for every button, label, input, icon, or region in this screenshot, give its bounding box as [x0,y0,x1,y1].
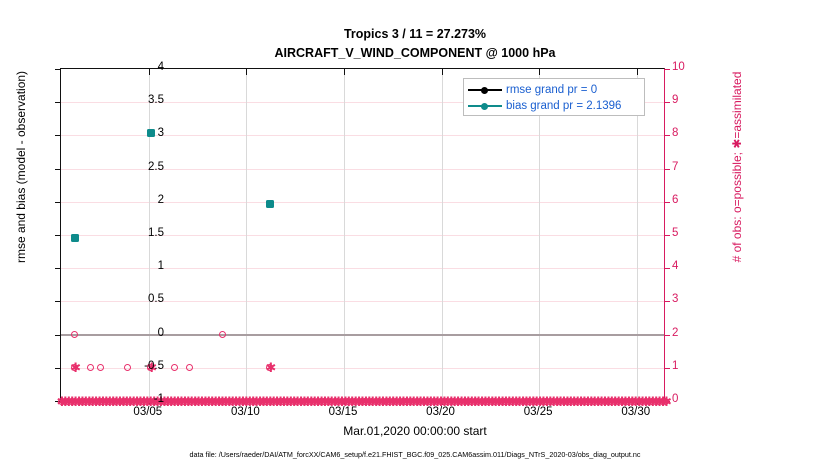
obs-assimilated-marker [265,363,274,372]
y-axis-left-ticklabel: 1.5 [116,228,164,240]
vertical-gridline [442,69,443,399]
y-axis-left-ticklabel: -0.5 [116,361,164,373]
y-axis-right-tick [664,135,670,136]
chart-title-line2: AIRCRAFT_V_WIND_COMPONENT @ 1000 hPa [0,46,830,60]
y-axis-left-tick [55,69,61,70]
x-axis-tick [246,69,247,75]
y-axis-left-ticklabel: 0.5 [116,294,164,306]
y-axis-left-ticklabel: 4 [116,62,164,74]
vertical-gridline [344,69,345,399]
x-axis-tick [539,69,540,75]
y-axis-left-tick [55,169,61,170]
y-axis-left-ticklabel: 0 [116,328,164,340]
x-axis-ticklabel: 03/05 [113,406,183,418]
obs-count-marker-zero [661,397,670,406]
vertical-gridline [539,69,540,399]
obs-possible-marker [186,364,193,371]
y-axis-right-tick [664,102,670,103]
obs-possible-marker [87,364,94,371]
y-axis-right-tick [664,235,670,236]
y-axis-right-ticklabel: 2 [672,328,712,340]
y-axis-right-ticklabel: 9 [672,95,712,107]
y-axis-right-tick [664,69,670,70]
x-axis-ticklabel: 03/25 [503,406,573,418]
y-axis-left-ticklabel: 2 [116,195,164,207]
data-file-footer: data file: /Users/raeder/DAI/ATM_forcXX/… [0,450,830,459]
x-axis-ticklabel: 03/30 [601,406,671,418]
y-axis-right-ticklabel: 5 [672,228,712,240]
y-axis-left-ticklabel: 1 [116,261,164,273]
y-axis-left-ticklabel: 3 [116,128,164,140]
y-axis-right-ticklabel: 0 [672,394,712,406]
obs-possible-marker [71,331,78,338]
y-axis-left-ticklabel: 3.5 [116,95,164,107]
y-axis-right-ticklabel: 1 [672,361,712,373]
y-axis-right-tick [664,335,670,336]
y-axis-right-tick [664,368,670,369]
y-axis-left-tick [55,368,61,369]
x-axis-ticklabel: 03/15 [308,406,378,418]
legend-label-rmse: rmse grand pr = 0 [506,84,597,96]
legend[interactable]: rmse grand pr = 0 bias grand pr = 2.1396 [463,78,645,116]
x-axis-tick [344,69,345,75]
obs-possible-marker [219,331,226,338]
y-axis-right-ticklabel: 10 [672,62,712,74]
y-axis-left-ticklabel: -1 [116,394,164,406]
y-axis-right-tick [664,268,670,269]
vertical-gridline [637,69,638,399]
legend-marker-bias [468,100,502,112]
chart-title-line1: Tropics 3 / 11 = 27.273% [0,27,830,41]
bias-marker [266,200,274,208]
legend-marker-rmse [468,84,502,96]
x-axis-tick [637,69,638,75]
y-axis-left-tick [55,235,61,236]
y-axis-left-tick [55,202,61,203]
y-axis-left-ticklabel: 2.5 [116,162,164,174]
obs-assimilated-marker [70,363,79,372]
legend-item-rmse[interactable]: rmse grand pr = 0 [468,82,640,98]
x-axis-tick [442,69,443,75]
y-axis-right-ticklabel: 3 [672,294,712,306]
y-axis-right-ticklabel: 4 [672,261,712,273]
x-axis-ticklabel: 03/10 [210,406,280,418]
obs-possible-marker [97,364,104,371]
y-axis-right-ticklabel: 6 [672,195,712,207]
bias-marker [71,234,79,242]
y-axis-right-ticklabel: 7 [672,162,712,174]
x-axis-ticklabel: 03/20 [406,406,476,418]
obs-possible-marker [171,364,178,371]
y-axis-left-tick [55,268,61,269]
y-axis-right-ticklabel: 8 [672,128,712,140]
figure-canvas: Tropics 3 / 11 = 27.273% AIRCRAFT_V_WIND… [0,0,830,470]
x-axis-label: Mar.01,2020 00:00:00 start [0,424,830,438]
vertical-gridline [246,69,247,399]
y-axis-left-tick [55,301,61,302]
y-axis-right-tick [664,169,670,170]
legend-item-bias[interactable]: bias grand pr = 2.1396 [468,98,640,114]
y-axis-right-tick [664,202,670,203]
y-axis-left-label: rmse and bias (model - observation) [14,0,28,402]
y-axis-right-tick [664,301,670,302]
y-axis-left-tick [55,135,61,136]
y-axis-left-tick [55,102,61,103]
legend-label-bias: bias grand pr = 2.1396 [506,100,621,112]
y-axis-right-label: # of obs: o=possible; ✱=assimilated [730,0,744,402]
